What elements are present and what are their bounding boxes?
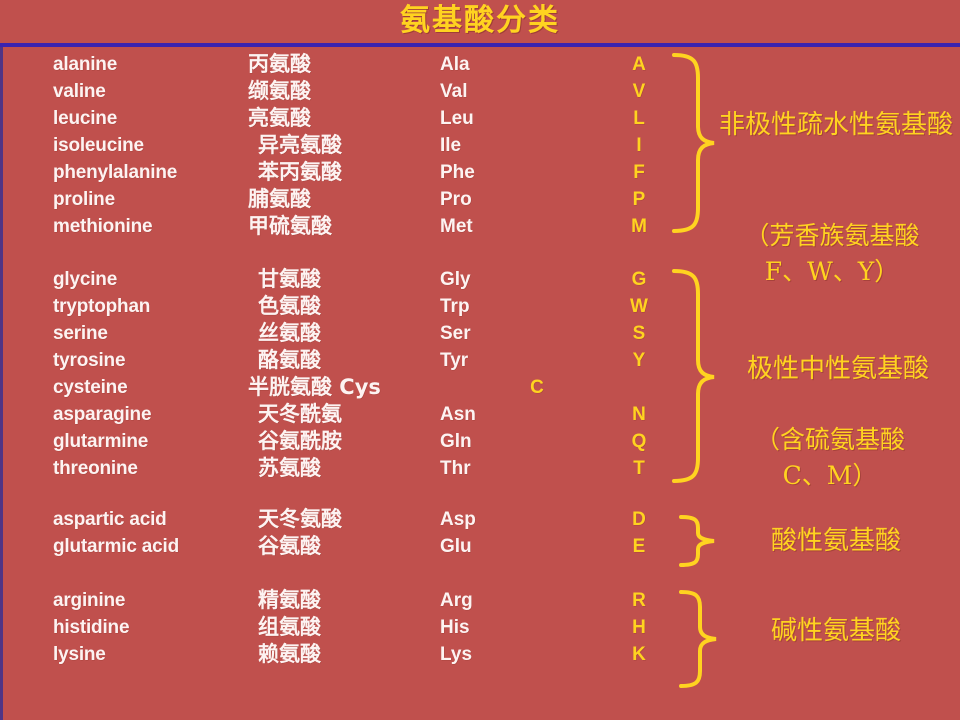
cell-letter: Q (624, 428, 654, 455)
cell-chinese: 酪氨酸 (258, 347, 321, 374)
cell-chinese: 丙氨酸 (248, 51, 311, 78)
cell-english: valine (53, 78, 106, 105)
cell-chinese: 组氨酸 (258, 614, 321, 641)
cell-chinese: 甲硫氨酸 (248, 213, 332, 240)
cell-chinese: 苯丙氨酸 (258, 159, 342, 186)
cell-abbr: Leu (440, 105, 474, 132)
cell-abbr: Glu (440, 533, 472, 560)
cell-abbr: Asn (440, 401, 476, 428)
cell-letter: D (624, 506, 654, 533)
cell-abbr: Pro (440, 186, 472, 213)
cell-abbr: Trp (440, 293, 470, 320)
cell-english: glutarmine (53, 428, 148, 455)
cell-chinese: 半胱氨酸 Cys (248, 374, 381, 401)
cell-letter: M (624, 213, 654, 240)
cell-chinese: 精氨酸 (258, 587, 321, 614)
cell-abbr: Tyr (440, 347, 468, 374)
cell-letter: P (624, 186, 654, 213)
group-label-polar: 极性中性氨基酸 (716, 352, 960, 386)
cell-english: methionine (53, 213, 152, 240)
group-brace-nonpolar (668, 52, 720, 234)
table-row: proline 脯氨酸 Pro P (0, 186, 960, 213)
table-row: phenylalanine 苯丙氨酸 Phe F (0, 159, 960, 186)
cell-letter: Y (624, 347, 654, 374)
group-note-polar: （含硫氨基酸 C、M） (708, 422, 952, 494)
cell-chinese: 亮氨酸 (248, 105, 311, 132)
page-title: 氨基酸分类 (0, 2, 960, 40)
cell-abbr: Thr (440, 455, 471, 482)
cell-english: threonine (53, 455, 138, 482)
cell-abbr: Lys (440, 641, 472, 668)
cell-letter: I (624, 132, 654, 159)
group-label-basic: 碱性氨基酸 (726, 614, 946, 648)
cell-english: glycine (53, 266, 117, 293)
cell-chinese: 赖氨酸 (258, 641, 321, 668)
cell-chinese: 丝氨酸 (258, 320, 321, 347)
cell-english: tryptophan (53, 293, 150, 320)
cell-letter: C (522, 374, 552, 401)
cell-chinese: 谷氨酸 (258, 533, 321, 560)
cell-abbr: Ile (440, 132, 461, 159)
cell-english: proline (53, 186, 115, 213)
cell-chinese: 天冬酰氨 (258, 401, 342, 428)
cell-chinese: 天冬氨酸 (258, 506, 342, 533)
cell-english: serine (53, 320, 108, 347)
cell-letter: F (624, 159, 654, 186)
group-brace-basic (676, 589, 722, 689)
cell-english: tyrosine (53, 347, 125, 374)
cell-chinese: 脯氨酸 (248, 186, 311, 213)
group-brace-acidic (676, 514, 722, 568)
cell-letter: A (624, 51, 654, 78)
cell-abbr: Gly (440, 266, 471, 293)
cell-letter: T (624, 455, 654, 482)
cell-english: leucine (53, 105, 117, 132)
cell-english: cysteine (53, 374, 127, 401)
table-row: alanine 丙氨酸 Ala A (0, 51, 960, 78)
group-label-acidic: 酸性氨基酸 (726, 524, 946, 558)
cell-letter: G (624, 266, 654, 293)
cell-english: phenylalanine (53, 159, 177, 186)
title-bar: 氨基酸分类 (0, 0, 960, 43)
cell-abbr: Ala (440, 51, 470, 78)
group-note-nonpolar: （芳香族氨基酸 F、W、Y） (708, 218, 956, 290)
cell-english: lysine (53, 641, 106, 668)
cell-abbr: Met (440, 213, 473, 240)
cell-chinese: 缬氨酸 (248, 78, 311, 105)
cell-english: aspartic acid (53, 506, 167, 533)
cell-letter: R (624, 587, 654, 614)
group-label-nonpolar: 非极性疏水性氨基酸 (718, 108, 954, 142)
table-row: valine 缬氨酸 Val V (0, 78, 960, 105)
cell-letter: E (624, 533, 654, 560)
cell-abbr: Val (440, 78, 467, 105)
cell-letter: H (624, 614, 654, 641)
table-row: arginine 精氨酸 Arg R (0, 587, 960, 614)
cell-english: glutarmic acid (53, 533, 179, 560)
cell-letter: S (624, 320, 654, 347)
cell-letter: L (624, 105, 654, 132)
table-row: serine 丝氨酸 Ser S (0, 320, 960, 347)
cell-english: arginine (53, 587, 125, 614)
cell-english: isoleucine (53, 132, 144, 159)
cell-abbr: His (440, 614, 470, 641)
cell-chinese: 异亮氨酸 (258, 132, 342, 159)
cell-abbr: Ser (440, 320, 471, 347)
cell-letter: N (624, 401, 654, 428)
cell-letter: W (624, 293, 654, 320)
slide-canvas: 氨基酸分类 alanine 丙氨酸 Ala A valine 缬氨酸 Val V… (0, 0, 960, 720)
cell-chinese: 色氨酸 (258, 293, 321, 320)
cell-abbr: Asp (440, 506, 476, 533)
cell-chinese: 苏氨酸 (258, 455, 321, 482)
cell-abbr: Arg (440, 587, 473, 614)
table-row: tryptophan 色氨酸 Trp W (0, 293, 960, 320)
cell-english: alanine (53, 51, 117, 78)
cell-abbr: Gln (440, 428, 472, 455)
cell-english: asparagine (53, 401, 151, 428)
cell-letter: V (624, 78, 654, 105)
cell-abbr: Phe (440, 159, 475, 186)
cell-letter: K (624, 641, 654, 668)
cell-chinese: 甘氨酸 (258, 266, 321, 293)
cell-english: histidine (53, 614, 129, 641)
cell-chinese: 谷氨酰胺 (258, 428, 342, 455)
